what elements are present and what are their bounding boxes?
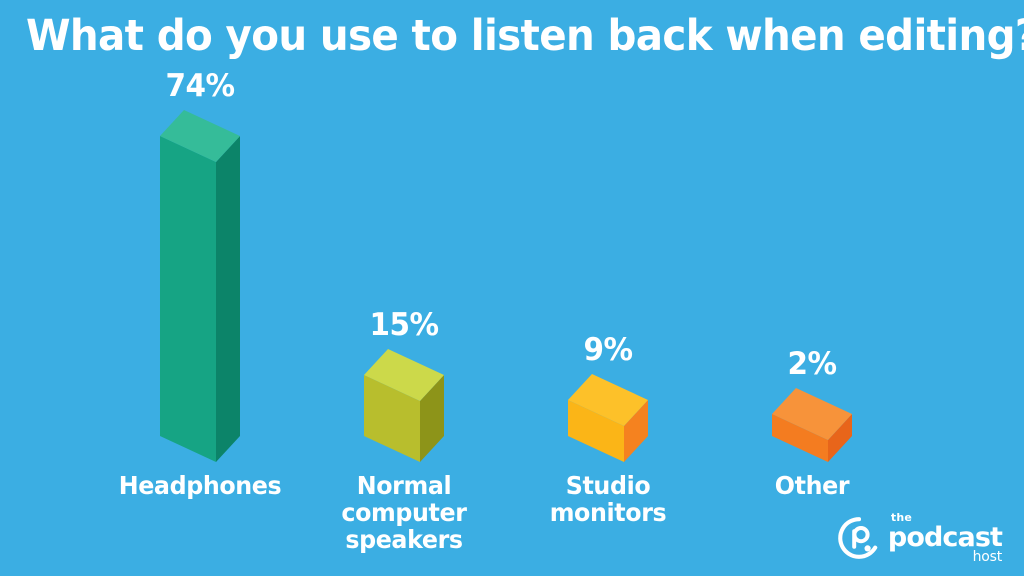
brand-logo: the podcast host	[837, 514, 1002, 562]
bar-3d-box	[772, 388, 852, 462]
chart-canvas: What do you use to listen back when edit…	[0, 0, 1024, 576]
logo-word-podcast: podcast	[888, 524, 1002, 551]
bar-group: 2%Other	[710, 0, 914, 576]
bar-chart-plot-area: 74%Headphones15%Normalcomputerspeakers9%…	[0, 0, 1024, 576]
bar-category-label: Normalcomputerspeakers	[307, 473, 501, 553]
bar-value-label: 2%	[715, 346, 909, 382]
bar-group: 9%Studiomonitors	[506, 0, 710, 576]
bar-3d-box	[568, 374, 648, 462]
bar-category-label: Other	[715, 473, 909, 500]
bar-3d-box	[364, 349, 444, 462]
brand-logo-wordmark: the podcast host	[888, 512, 1002, 564]
podcast-p-circle-icon	[837, 516, 881, 560]
bar-face-side	[216, 136, 240, 462]
bar-group: 74%Headphones	[98, 0, 302, 576]
bar-category-label-line: Normal	[307, 473, 501, 500]
bar-group: 15%Normalcomputerspeakers	[302, 0, 506, 576]
bar-category-label-line: monitors	[511, 500, 705, 527]
bar-value-label: 74%	[103, 68, 297, 104]
bar-category-label-line: Other	[715, 473, 909, 500]
bar-value-label: 9%	[511, 332, 705, 368]
bar-face-front	[160, 136, 216, 462]
bar-category-label-line: computer	[307, 500, 501, 527]
bar-3d-box	[160, 110, 240, 462]
bar-category-label: Headphones	[103, 473, 297, 500]
bar-value-label: 15%	[307, 307, 501, 343]
bar-category-label-line: speakers	[307, 527, 501, 554]
bar-category-label-line: Studio	[511, 473, 705, 500]
bar-category-label: Studiomonitors	[511, 473, 705, 527]
bar-category-label-line: Headphones	[103, 473, 297, 500]
